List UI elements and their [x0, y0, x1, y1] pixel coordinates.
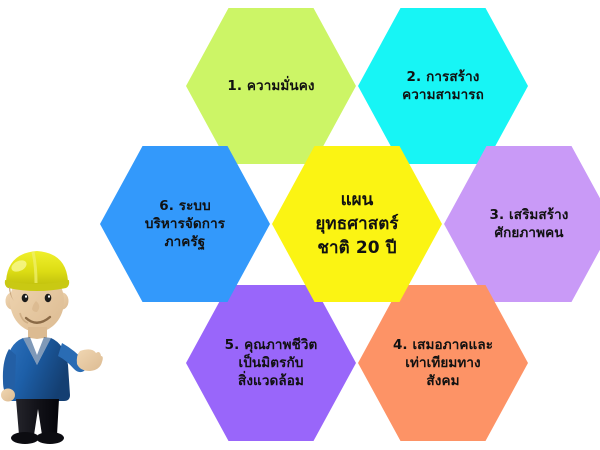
- hexagon-center-label: แผน ยุทธศาสตร์ ชาติ 20 ปี: [301, 188, 412, 260]
- hexagon-cell-5-quality-of-life[interactable]: 5. คุณภาพชีวิต เป็นมิตรกับ สิ่งแวดล้อม: [186, 285, 356, 441]
- right-shoe: [36, 432, 64, 444]
- hexagon-cell-3-human-potential[interactable]: 3. เสริมสร้าง ศักยภาพคน: [444, 146, 600, 302]
- left-eye: [22, 294, 29, 302]
- diagram-canvas: 1. ความมั่นคง 2. การสร้าง ความสามารถ 3. …: [0, 0, 600, 450]
- hexagon-cell-5-label: 5. คุณภาพชีวิต เป็นมิตรกับ สิ่งแวดล้อม: [211, 336, 332, 390]
- engineer-illustration: [0, 243, 112, 450]
- hexagon-cell-4-label: 4. เสมอภาคและ เท่าเทียมทาง สังคม: [379, 336, 507, 390]
- right-eye-glint: [48, 295, 50, 298]
- hexagon-cell-2-capability[interactable]: 2. การสร้าง ความสามารถ: [358, 8, 528, 164]
- hexagon-cell-1-security[interactable]: 1. ความมั่นคง: [186, 8, 356, 164]
- hexagon-cell-2-label: 2. การสร้าง ความสามารถ: [388, 68, 498, 104]
- right-eye: [45, 294, 52, 302]
- trousers-shape: [16, 399, 59, 435]
- cartoon-engineer-character: [0, 243, 112, 450]
- left-shoe: [11, 432, 39, 444]
- hexagon-center-national-strategy[interactable]: แผน ยุทธศาสตร์ ชาติ 20 ปี: [272, 146, 442, 302]
- right-hand-open-palm: [77, 349, 103, 371]
- left-eye-glint: [25, 295, 27, 298]
- hexagon-cell-3-label: 3. เสริมสร้าง ศักยภาพคน: [476, 206, 583, 242]
- left-hand-shape: [1, 389, 15, 402]
- hexagon-cell-6-label: 6. ระบบ บริหารจัดการ ภาครัฐ: [131, 197, 239, 251]
- hexagon-cell-6-public-sector-management[interactable]: 6. ระบบ บริหารจัดการ ภาครัฐ: [100, 146, 270, 302]
- left-arm-shape: [3, 349, 16, 395]
- hexagon-cell-4-social-equality[interactable]: 4. เสมอภาคและ เท่าเทียมทาง สังคม: [358, 285, 528, 441]
- hexagon-cell-1-label: 1. ความมั่นคง: [213, 77, 328, 95]
